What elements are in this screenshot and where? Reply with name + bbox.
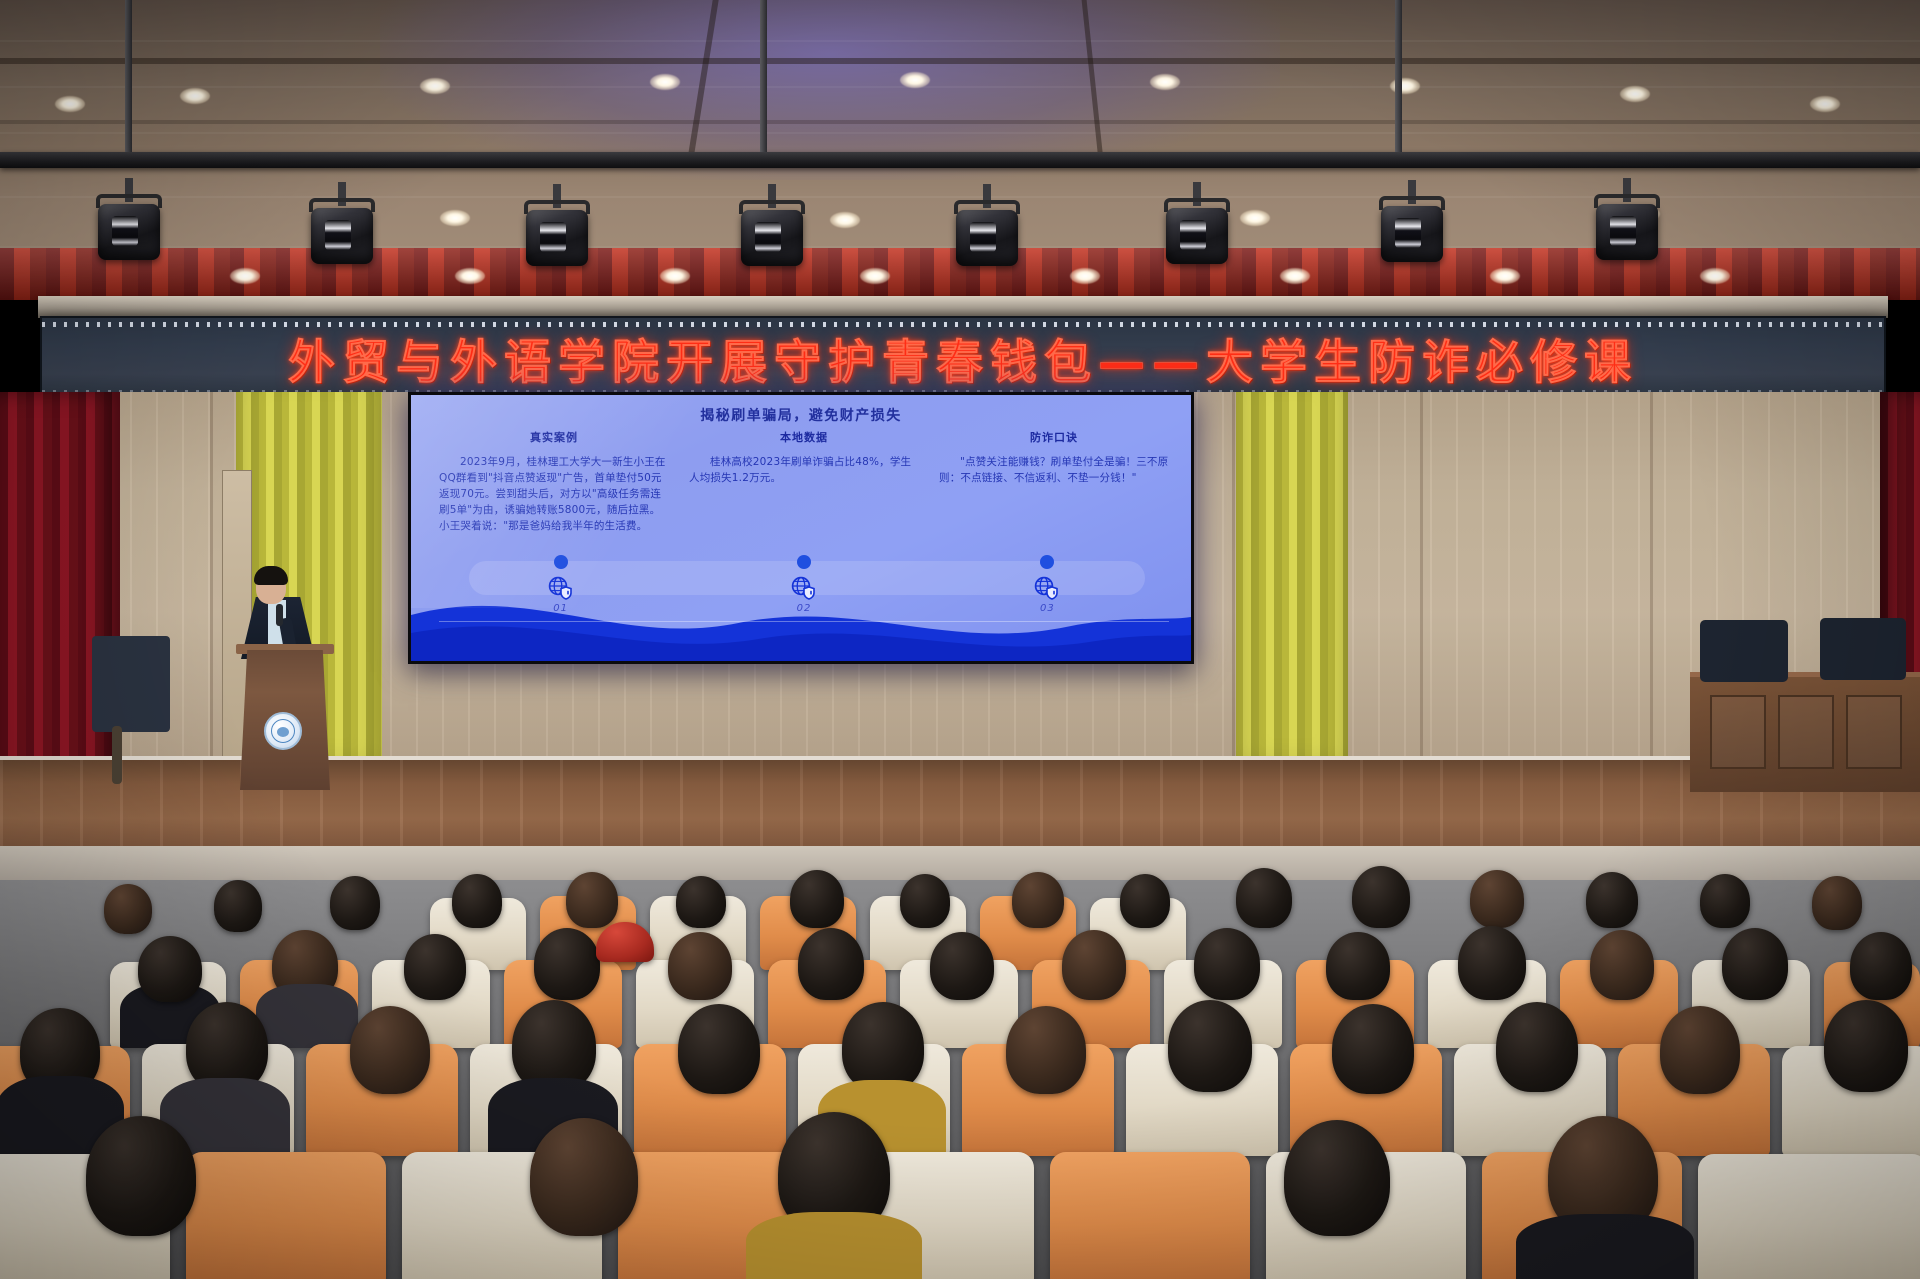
speaker-hair xyxy=(254,566,288,585)
audience-head xyxy=(1586,872,1638,928)
lighting-truss xyxy=(0,152,1920,168)
stage-chair-left xyxy=(92,636,170,732)
audience-shoulders xyxy=(746,1212,922,1279)
screen-glare xyxy=(411,395,1191,608)
audience-head xyxy=(1660,1006,1740,1094)
downlight xyxy=(830,212,860,228)
wall-spot xyxy=(1070,268,1100,284)
auditorium-photo: 外贸与外语学院开展守护青春钱包——大学生防诈必修课 揭秘刷单骗局，避免财产损失 … xyxy=(0,0,1920,1279)
audience-head xyxy=(1062,930,1126,1000)
wall-spot xyxy=(860,268,890,284)
audience-head xyxy=(404,934,466,1000)
truss-drop xyxy=(125,0,132,152)
downlight xyxy=(440,210,470,226)
seat xyxy=(186,1152,386,1279)
spotlight-fixture xyxy=(735,206,809,280)
audience-head xyxy=(534,928,600,1000)
curtain-left-red xyxy=(0,392,120,812)
wall-spot xyxy=(1700,268,1730,284)
downlight xyxy=(1810,96,1840,112)
downlight xyxy=(1620,86,1650,102)
seat xyxy=(1698,1154,1920,1279)
audience-head xyxy=(1006,1006,1086,1094)
spotlight-fixture xyxy=(1160,204,1234,278)
audience-head xyxy=(1012,872,1064,928)
stage-chair-left-base xyxy=(112,726,122,784)
seat xyxy=(1050,1152,1250,1279)
audience-head xyxy=(104,884,152,934)
spotlight-fixture xyxy=(1375,202,1449,276)
downlight xyxy=(55,96,85,112)
audience-head xyxy=(668,932,732,1000)
audience-head xyxy=(1496,1002,1578,1092)
ceiling-beam xyxy=(0,120,1920,124)
led-banner: 外贸与外语学院开展守护青春钱包——大学生防诈必修课 xyxy=(40,316,1886,400)
audience-head xyxy=(678,1004,760,1094)
stage-chair-right-2 xyxy=(1820,618,1906,680)
audience-head xyxy=(1458,926,1526,1000)
audience-head xyxy=(930,932,994,1000)
audience-head xyxy=(214,880,262,932)
wall-spot xyxy=(455,268,485,284)
downlight xyxy=(1240,210,1270,226)
audience-head xyxy=(1168,1000,1252,1092)
projection-screen: 揭秘刷单骗局，避免财产损失 真实案例 2023年9月，桂林理工大学大一新生小王在… xyxy=(408,392,1194,664)
downlight xyxy=(900,72,930,88)
stage-chair-right xyxy=(1700,620,1788,682)
audience-head xyxy=(350,1006,430,1094)
wall-spot xyxy=(1280,268,1310,284)
audience-head xyxy=(566,872,618,928)
audience-head xyxy=(1700,874,1750,928)
downlight xyxy=(420,78,450,94)
audience-head xyxy=(900,874,950,928)
downlight xyxy=(180,88,210,104)
wall-spot xyxy=(660,268,690,284)
truss-drop xyxy=(760,0,767,152)
ceiling-beam xyxy=(0,58,1920,64)
audience-head xyxy=(798,928,864,1000)
audience-head xyxy=(1236,868,1292,928)
slide-divider xyxy=(439,621,1169,622)
presentation-slide: 揭秘刷单骗局，避免财产损失 真实案例 2023年9月，桂林理工大学大一新生小王在… xyxy=(411,395,1191,661)
downlight xyxy=(1150,74,1180,90)
led-banner-text: 外贸与外语学院开展守护青春钱包——大学生防诈必修课 xyxy=(42,324,1884,393)
audience-head xyxy=(1590,930,1654,1000)
spotlight-fixture xyxy=(520,206,594,280)
wall-spot xyxy=(1490,268,1520,284)
audience-head xyxy=(1284,1120,1390,1236)
audience-shoulders xyxy=(1516,1214,1694,1279)
wall-spot xyxy=(230,268,260,284)
audience-head xyxy=(138,936,202,1002)
spotlight-fixture xyxy=(950,206,1024,280)
audience-head xyxy=(1352,866,1410,928)
audience-head xyxy=(86,1116,196,1236)
audience-head xyxy=(1120,874,1170,928)
banner-rail xyxy=(38,296,1888,318)
stage-dais-right xyxy=(1690,672,1920,792)
truss-drop xyxy=(1395,0,1402,152)
audience-area xyxy=(0,880,1920,1279)
audience-head xyxy=(676,876,726,928)
audience-head xyxy=(1722,928,1788,1000)
microphone xyxy=(276,604,283,626)
audience-head xyxy=(1824,1000,1908,1092)
spotlight-fixture xyxy=(305,204,379,278)
audience-head xyxy=(842,1002,924,1092)
audience-head xyxy=(1326,932,1390,1000)
curtain-right-yellow xyxy=(1236,392,1348,792)
audience-head xyxy=(1194,928,1260,1000)
audience-head xyxy=(790,870,844,928)
audience-head xyxy=(330,876,380,930)
audience-head xyxy=(1332,1004,1414,1094)
audience-head xyxy=(530,1118,638,1236)
spotlight-fixture xyxy=(1590,200,1664,274)
audience-head xyxy=(1470,870,1524,928)
audience-head xyxy=(1850,932,1912,1000)
audience-head xyxy=(452,874,502,928)
downlight xyxy=(650,74,680,90)
spotlight-fixture xyxy=(92,200,166,274)
audience-head-with-cap xyxy=(596,922,654,962)
podium-emblem xyxy=(264,712,302,750)
audience-head xyxy=(1812,876,1862,930)
audience-shoulders xyxy=(256,984,358,1048)
